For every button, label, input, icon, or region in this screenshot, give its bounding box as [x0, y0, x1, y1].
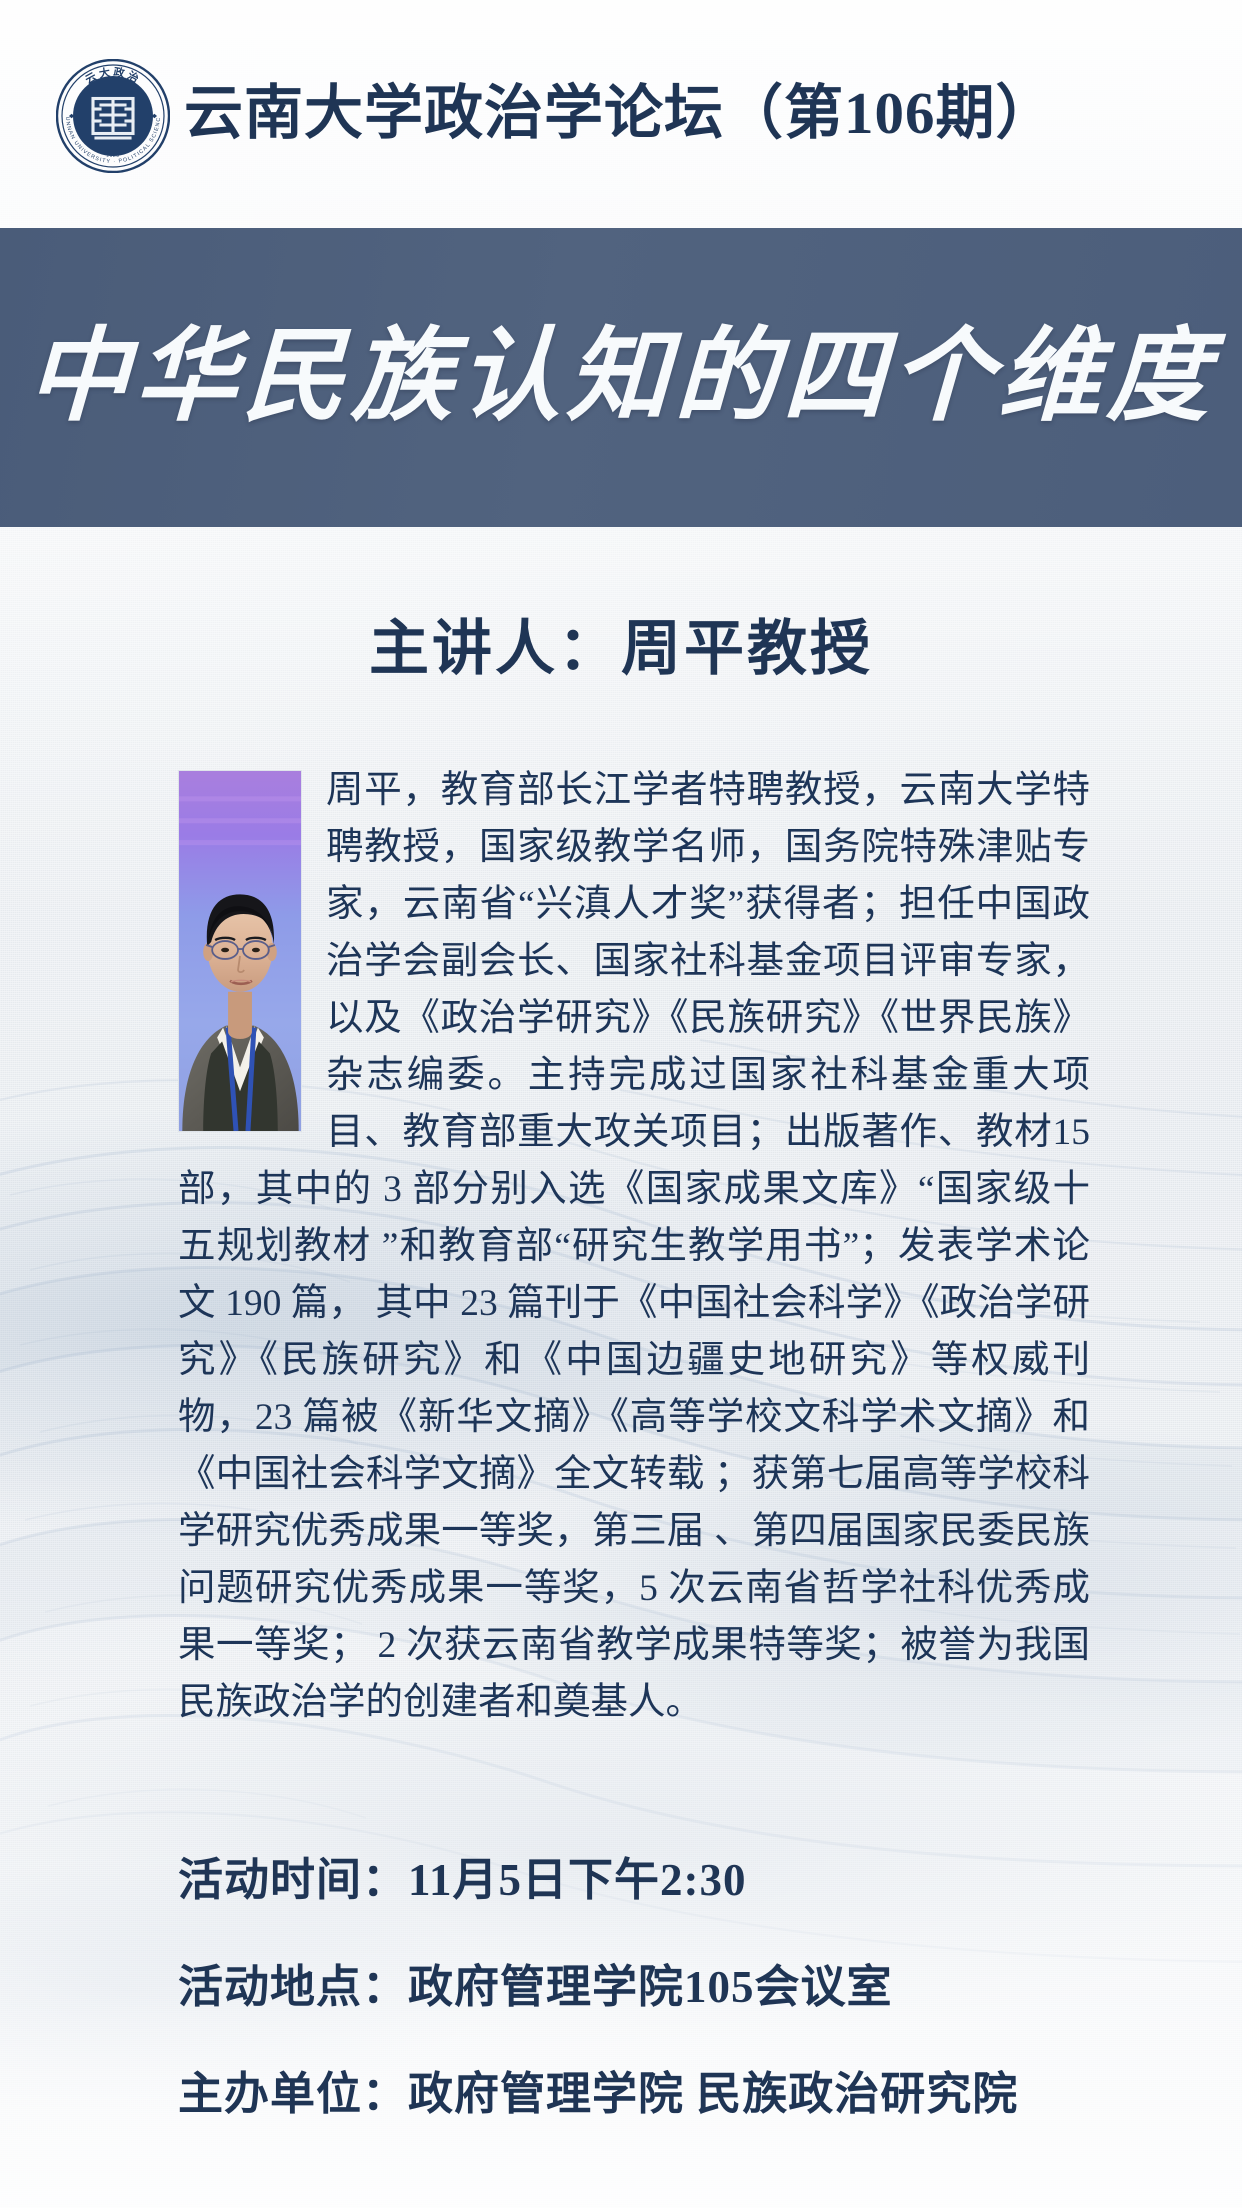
university-seal-icon: 云大政治 YUNNAN UNIVERSITY · POLITICAL SCIEN… [56, 59, 170, 173]
event-time-row: 活动时间：11月5日下午2:30 [178, 1858, 1118, 1903]
svg-text:1923: 1923 [106, 152, 120, 159]
speaker-bio-block: 周平，教育部长江学者特聘教授，云南大学特聘教授，国家级教学名师，国务院特殊津贴专… [178, 762, 1090, 1731]
speaker-heading: 主讲人：周平教授 [0, 600, 1242, 687]
forum-title: 云南大学政治学论坛（第106期） [184, 83, 1056, 145]
poster-header: 云大政治 YUNNAN UNIVERSITY · POLITICAL SCIEN… [0, 0, 1242, 228]
lecture-title: 中华民族认知的四个维度 [25, 327, 1217, 429]
speaker-portrait-photo [178, 770, 302, 1132]
event-place-row: 活动地点：政府管理学院105会议室 [178, 1965, 1118, 2010]
poster-root: 云大政治 YUNNAN UNIVERSITY · POLITICAL SCIEN… [0, 0, 1242, 2208]
speaker-bio-text: 周平，教育部长江学者特聘教授，云南大学特聘教授，国家级教学名师，国务院特殊津贴专… [178, 762, 1090, 1731]
event-info-block: 活动时间：11月5日下午2:30 活动地点：政府管理学院105会议室 主办单位：… [178, 1858, 1118, 2117]
event-host-row: 主办单位：政府管理学院 民族政治研究院 [178, 2072, 1118, 2117]
lecture-title-banner: 中华民族认知的四个维度 [0, 228, 1242, 527]
